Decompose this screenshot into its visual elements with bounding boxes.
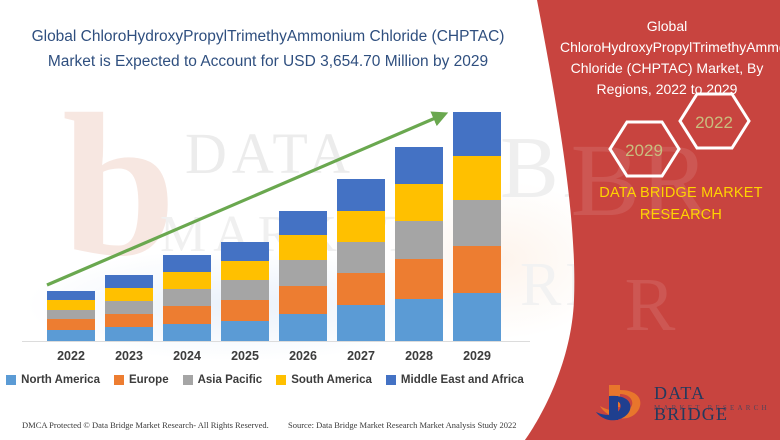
x-axis-label-2026: 2026: [279, 349, 327, 363]
bar-segment-middle-east-and-africa: [105, 275, 153, 288]
legend-label: North America: [21, 374, 100, 386]
footer-copyright: DMCA Protected © Data Bridge Market Rese…: [22, 420, 269, 430]
bar-segment-north-america: [221, 321, 269, 341]
bar-segment-south-america: [221, 261, 269, 280]
x-axis-label-2023: 2023: [105, 349, 153, 363]
svg-text:2029: 2029: [625, 141, 663, 160]
bar-segment-europe: [221, 300, 269, 321]
bar-segment-asia-pacific: [47, 310, 95, 319]
bar-segment-north-america: [47, 330, 95, 341]
x-axis-label-2022: 2022: [47, 349, 95, 363]
legend-swatch-icon: [276, 375, 286, 385]
legend-label: Europe: [129, 374, 169, 386]
bar-segment-north-america: [453, 293, 501, 341]
bar-segment-europe: [453, 246, 501, 293]
bar-segment-south-america: [163, 272, 211, 289]
bar-segment-europe: [163, 306, 211, 324]
company-logo: DATA BRIDGE MARKET RESEARCH: [596, 382, 776, 426]
legend-item-north-america[interactable]: North America: [6, 374, 100, 386]
bar-segment-europe: [395, 259, 443, 299]
bar-segment-south-america: [395, 184, 443, 221]
bar-segment-middle-east-and-africa: [395, 147, 443, 184]
legend-item-middle-east-and-africa[interactable]: Middle East and Africa: [386, 374, 524, 386]
bar-segment-asia-pacific: [337, 242, 385, 273]
bar-2026[interactable]: [279, 211, 327, 341]
bar-segment-north-america: [337, 305, 385, 341]
bar-segment-south-america: [337, 211, 385, 242]
bar-segment-north-america: [395, 299, 443, 341]
bar-segment-asia-pacific: [105, 301, 153, 314]
bar-segment-europe: [47, 319, 95, 330]
bar-segment-asia-pacific: [163, 289, 211, 306]
bar-2025[interactable]: [221, 242, 269, 341]
bar-segment-asia-pacific: [395, 221, 443, 259]
legend-swatch-icon: [6, 375, 16, 385]
legend-swatch-icon: [386, 375, 396, 385]
svg-text:R: R: [625, 263, 676, 347]
legend-item-south-america[interactable]: South America: [276, 374, 372, 386]
bar-segment-south-america: [279, 235, 327, 260]
legend-label: Middle East and Africa: [401, 374, 524, 386]
x-axis-label-2027: 2027: [337, 349, 385, 363]
bar-2023[interactable]: [105, 275, 153, 341]
brand-name: DATA BRIDGE MARKET RESEARCH: [586, 182, 776, 226]
bar-segment-north-america: [163, 324, 211, 341]
bar-segment-south-america: [47, 300, 95, 310]
bar-segment-south-america: [453, 156, 501, 200]
legend-label: Asia Pacific: [198, 374, 263, 386]
bar-2024[interactable]: [163, 255, 211, 341]
x-axis-label-2028: 2028: [395, 349, 443, 363]
bar-segment-asia-pacific: [221, 280, 269, 300]
bar-segment-europe: [105, 314, 153, 327]
legend-swatch-icon: [183, 375, 193, 385]
infographic-canvas: b DATA MARKET BRIDGE RESEARCH Global Chl…: [0, 0, 780, 440]
bar-segment-middle-east-and-africa: [221, 242, 269, 261]
bar-segment-middle-east-and-africa: [279, 211, 327, 235]
legend-item-europe[interactable]: Europe: [114, 374, 169, 386]
bar-segment-north-america: [279, 314, 327, 341]
footer-source: Source: Data Bridge Market Research Mark…: [288, 420, 517, 430]
bar-segment-middle-east-and-africa: [47, 291, 95, 300]
legend-swatch-icon: [114, 375, 124, 385]
svg-text:2022: 2022: [695, 113, 733, 132]
chart-legend: North AmericaEuropeAsia PacificSouth Ame…: [0, 374, 530, 386]
bar-segment-middle-east-and-africa: [453, 112, 501, 156]
bar-segment-asia-pacific: [279, 260, 327, 286]
footer: DMCA Protected © Data Bridge Market Rese…: [0, 418, 560, 440]
logo-secondary-text: MARKET RESEARCH: [654, 404, 770, 412]
bar-segment-middle-east-and-africa: [163, 255, 211, 272]
logo-mark-icon: [596, 382, 652, 426]
stacked-bar-chart: 20222023202420252026202720282029: [0, 0, 560, 400]
bar-segment-europe: [279, 286, 327, 314]
legend-item-asia-pacific[interactable]: Asia Pacific: [183, 374, 263, 386]
legend-label: South America: [291, 374, 372, 386]
bar-segment-europe: [337, 273, 385, 305]
bar-2029[interactable]: [453, 112, 501, 341]
x-axis-label-2024: 2024: [163, 349, 211, 363]
bar-segment-asia-pacific: [453, 200, 501, 246]
bar-2028[interactable]: [395, 147, 443, 341]
bar-segment-middle-east-and-africa: [337, 179, 385, 211]
bar-2027[interactable]: [337, 179, 385, 341]
x-axis-label-2025: 2025: [221, 349, 269, 363]
bar-segment-south-america: [105, 288, 153, 301]
x-axis-label-2029: 2029: [453, 349, 501, 363]
bar-2022[interactable]: [47, 291, 95, 341]
bar-segment-north-america: [105, 327, 153, 341]
